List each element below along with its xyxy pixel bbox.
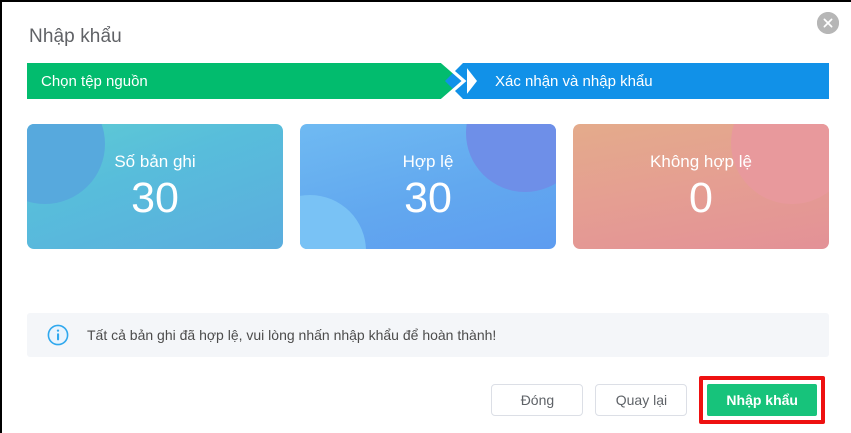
- summary-cards: Số bản ghi 30 Hợp lệ 30 Không hợp lệ 0: [27, 124, 829, 249]
- step-choose-source-file[interactable]: Chọn tệp nguồn: [27, 63, 463, 99]
- import-button-highlight: Nhập khẩu: [699, 376, 825, 424]
- card-decoration-circle: [466, 124, 556, 192]
- step-progress-bar: Chọn tệp nguồn Xác nhận và nhập khẩu: [27, 63, 829, 99]
- card-total-records-label: Số bản ghi: [114, 153, 195, 170]
- card-invalid-records-value: 0: [650, 177, 752, 220]
- card-invalid-records: Không hợp lệ 0: [573, 124, 829, 249]
- info-message-bar: Tất cả bản ghi đã hợp lệ, vui lòng nhấn …: [27, 313, 829, 357]
- card-valid-records-text: Hợp lệ 30: [403, 153, 454, 220]
- info-circle-icon: [47, 324, 69, 346]
- close-button[interactable]: Đóng: [491, 384, 583, 416]
- import-dialog: Nhập khẩu Chọn tệp nguồn Xác nhận và nhậ…: [0, 0, 851, 433]
- step-1-label: Chọn tệp nguồn: [41, 73, 148, 90]
- card-valid-records-value: 30: [403, 177, 454, 220]
- dialog-title: Nhập khẩu: [29, 26, 122, 48]
- card-total-records: Số bản ghi 30: [27, 124, 283, 249]
- step-confirm-and-import[interactable]: Xác nhận và nhập khẩu: [463, 63, 829, 99]
- import-button[interactable]: Nhập khẩu: [707, 384, 817, 416]
- card-invalid-records-label: Không hợp lệ: [650, 153, 752, 170]
- card-total-records-text: Số bản ghi 30: [114, 153, 195, 220]
- back-button[interactable]: Quay lại: [595, 384, 687, 416]
- card-valid-records: Hợp lệ 30: [300, 124, 556, 249]
- dialog-footer: Đóng Quay lại Nhập khẩu: [491, 376, 825, 424]
- close-icon[interactable]: [817, 12, 839, 34]
- card-invalid-records-text: Không hợp lệ 0: [650, 153, 752, 220]
- info-message-text: Tất cả bản ghi đã hợp lệ, vui lòng nhấn …: [87, 327, 496, 343]
- card-decoration-circle-2: [300, 195, 366, 249]
- step-2-label: Xác nhận và nhập khẩu: [495, 73, 653, 90]
- card-decoration-circle: [27, 124, 105, 204]
- card-total-records-value: 30: [114, 177, 195, 220]
- card-valid-records-label: Hợp lệ: [403, 153, 454, 170]
